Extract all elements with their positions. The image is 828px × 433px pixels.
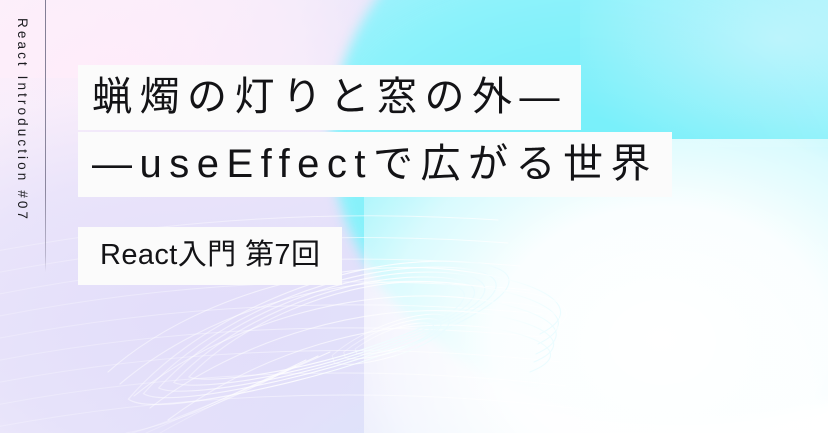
banner-card: React Introduction #07 蝋燭の灯りと窓の外— —useEf…	[0, 0, 828, 433]
vertical-rule-icon	[45, 0, 46, 272]
series-label: React Introduction #07	[0, 18, 44, 276]
subtitle-badge: React入門 第7回	[78, 227, 342, 285]
page-title: 蝋燭の灯りと窓の外— —useEffectで広がる世界	[78, 65, 672, 197]
series-label-text: React Introduction #07	[15, 18, 29, 222]
page-title-line-1: 蝋燭の灯りと窓の外—	[78, 65, 581, 130]
page-title-line-2: —useEffectで広がる世界	[78, 132, 672, 197]
